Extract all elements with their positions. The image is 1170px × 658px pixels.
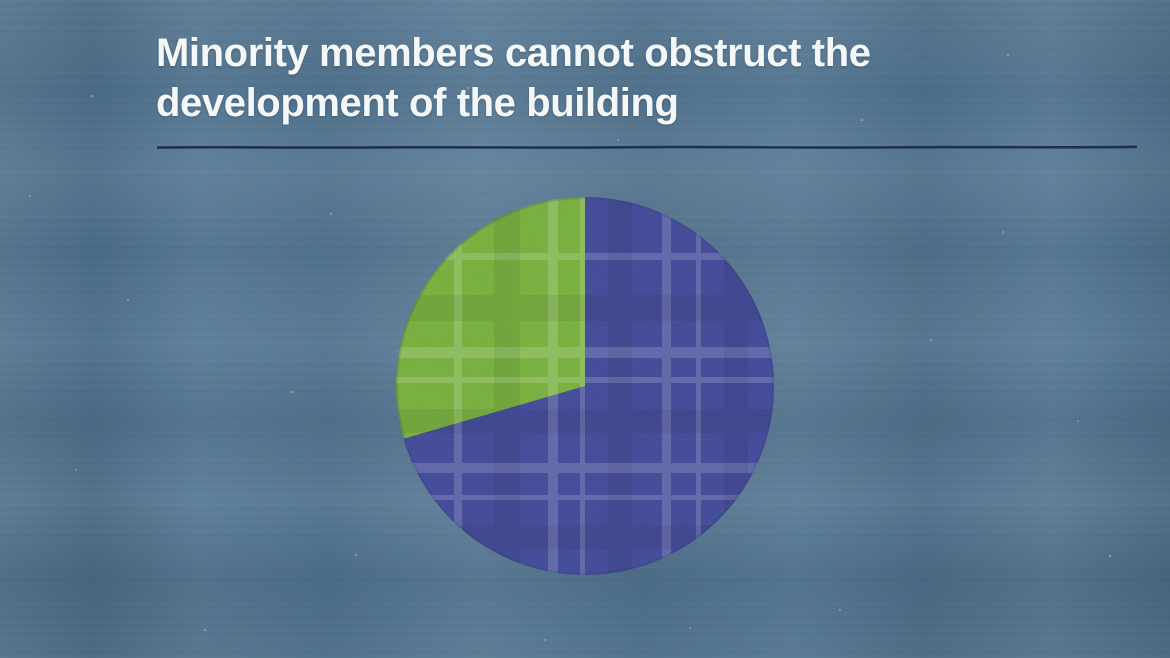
- slide-canvas: Minority members cannot obstruct the dev…: [0, 0, 1170, 658]
- title-divider-rule: [157, 140, 1137, 154]
- slide-title-line-2: development of the building: [156, 78, 1016, 128]
- slide-title-line-1: Minority members cannot obstruct the: [156, 28, 1016, 78]
- pie-chart: [394, 195, 776, 577]
- pie-grain-texture: [394, 195, 776, 577]
- slide-title: Minority members cannot obstruct the dev…: [156, 28, 1016, 128]
- pie-chart-svg: [394, 195, 776, 577]
